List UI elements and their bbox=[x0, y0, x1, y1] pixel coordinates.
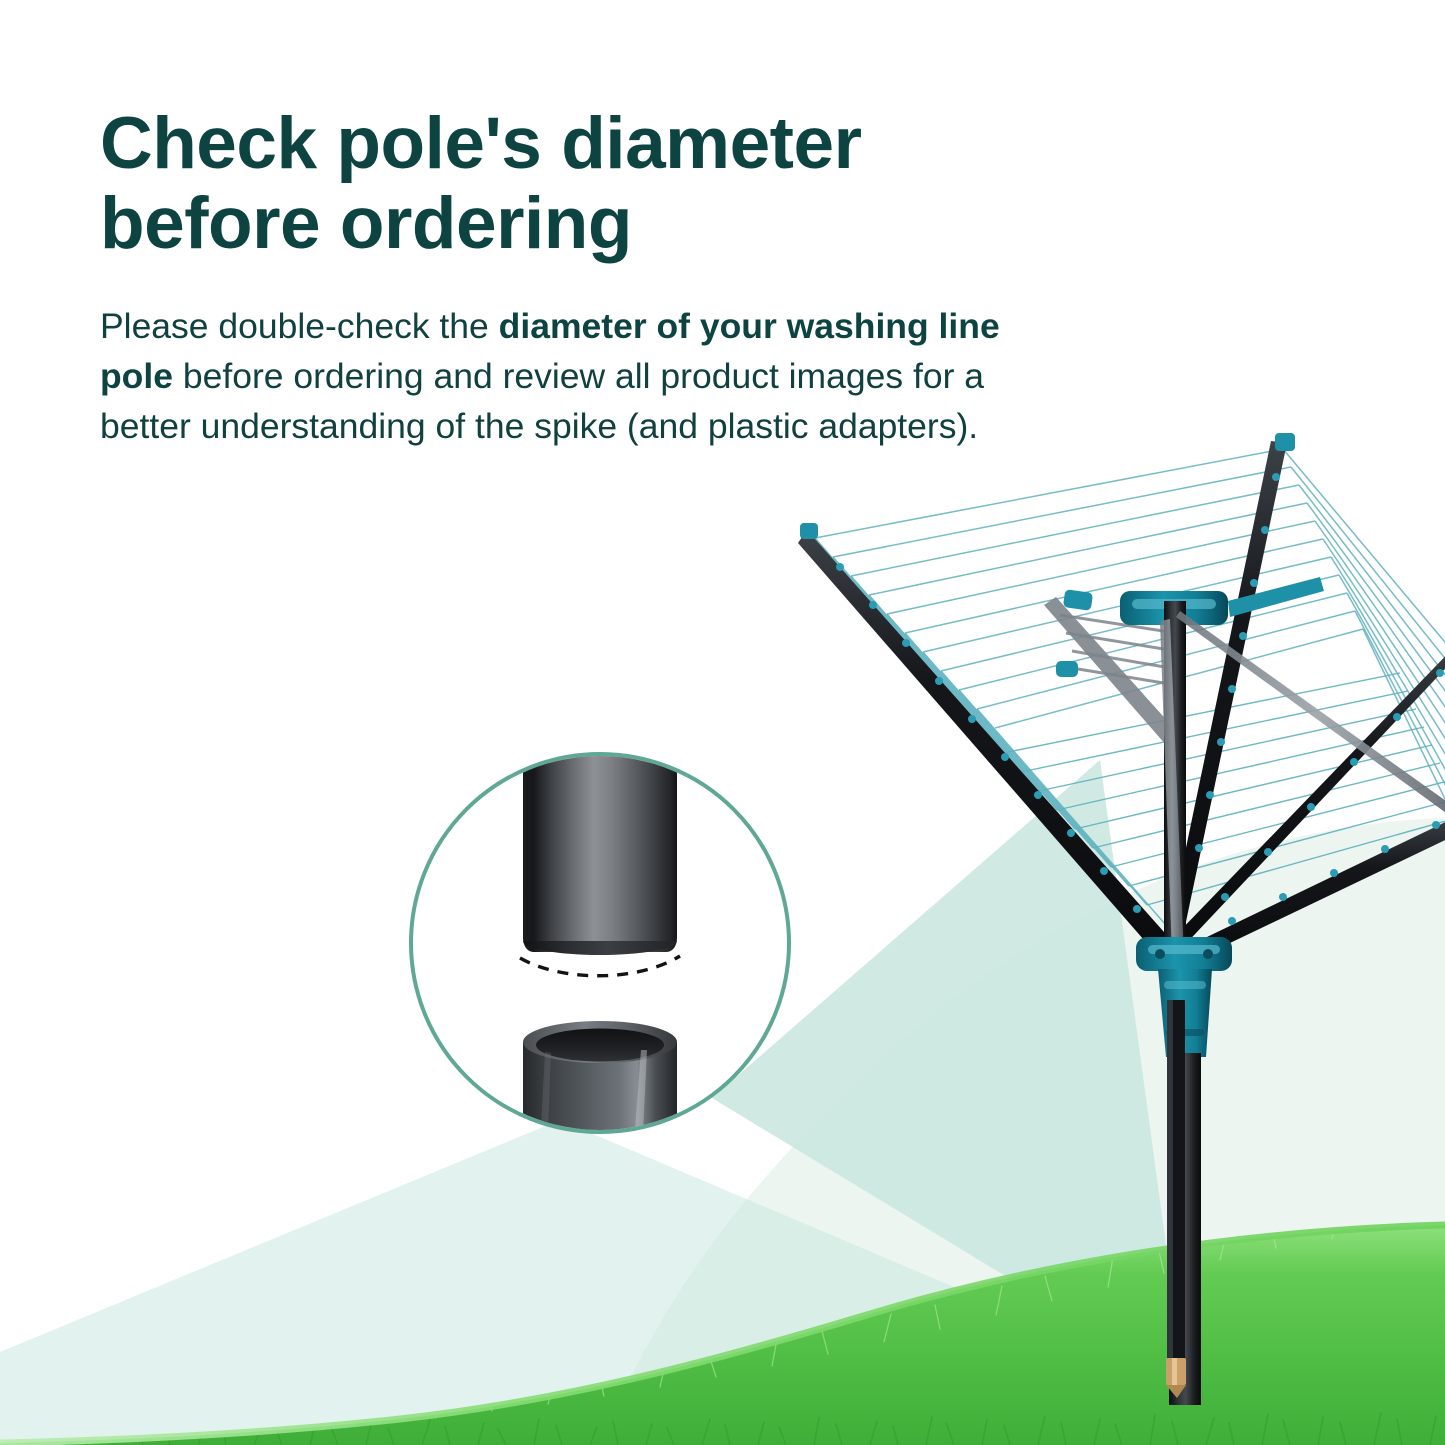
headline-line-2: before ordering bbox=[100, 183, 632, 264]
pole-diameter-inset bbox=[409, 752, 791, 1134]
headline-line-1: Check pole's diameter bbox=[100, 103, 862, 184]
adapter-socket-icon bbox=[515, 1020, 685, 1134]
subcopy-segment-lead: Please double-check the bbox=[100, 306, 499, 346]
subcopy-segment-tail: before ordering and review all product i… bbox=[100, 356, 984, 446]
copy-block: Check pole's diameter before ordering Pl… bbox=[100, 104, 1100, 452]
metal-pole-end bbox=[523, 752, 677, 952]
page-title: Check pole's diameter before ordering bbox=[100, 104, 1000, 265]
dashed-arc-icon bbox=[516, 952, 684, 988]
infographic-canvas: Check pole's diameter before ordering Pl… bbox=[0, 0, 1445, 1445]
subcopy-paragraph: Please double-check the diameter of your… bbox=[100, 265, 1060, 452]
